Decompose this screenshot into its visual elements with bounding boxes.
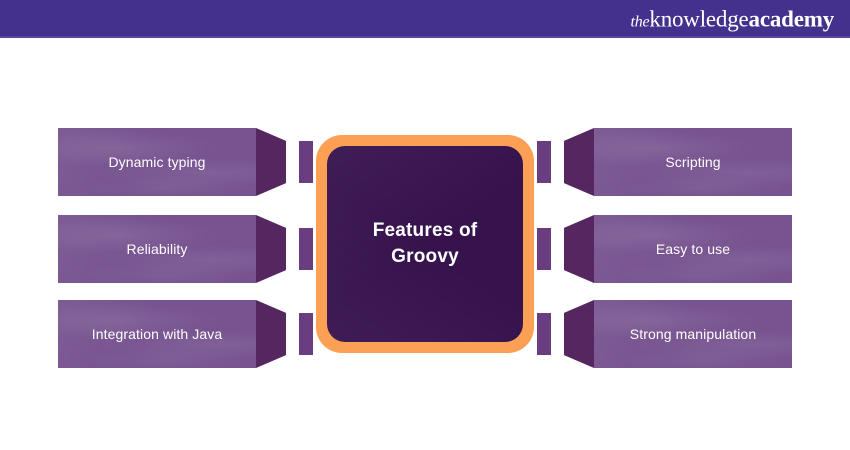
feature-item-reliability[interactable]: Reliability (58, 215, 313, 283)
arrow-taper-icon (256, 128, 286, 196)
arrow-taper-icon (564, 300, 594, 368)
arrow-taper-icon (256, 215, 286, 283)
brand-the-text: the (630, 14, 649, 31)
feature-item-easy-to-use[interactable]: Easy to use (537, 215, 792, 283)
center-title: Features of Groovy (373, 218, 478, 269)
arrow-connector-tab (537, 313, 551, 355)
arrow-connector-tab (299, 313, 313, 355)
arrow-connector-tab (537, 141, 551, 183)
brand-knowledge-text: knowledge (649, 7, 748, 32)
feature-body: Strong manipulation (594, 300, 792, 368)
arrow-taper-icon (564, 215, 594, 283)
feature-body: Easy to use (594, 215, 792, 283)
arrow-taper-icon (564, 128, 594, 196)
feature-label: Strong manipulation (630, 326, 756, 343)
feature-body: Integration with Java (58, 300, 256, 368)
center-card-inner: Features of Groovy (327, 146, 523, 342)
center-title-line-2: Groovy (391, 246, 459, 267)
arrow-connector-tab (299, 228, 313, 270)
arrow-connector-tab (299, 141, 313, 183)
feature-item-scripting[interactable]: Scripting (537, 128, 792, 196)
brand-logo: theknowledgeacademy (630, 8, 834, 31)
brand-academy-text: academy (749, 7, 834, 32)
arrow-taper-icon (256, 300, 286, 368)
center-card: Features of Groovy (316, 135, 534, 353)
arrow-connector-tab (537, 228, 551, 270)
feature-item-dynamic-typing[interactable]: Dynamic typing (58, 128, 313, 196)
feature-body: Scripting (594, 128, 792, 196)
feature-label: Reliability (126, 241, 187, 258)
feature-body: Reliability (58, 215, 256, 283)
feature-label: Scripting (665, 154, 720, 171)
features-diagram: Dynamic typing Reliability Integration w… (0, 38, 850, 450)
feature-item-strong-manipulation[interactable]: Strong manipulation (537, 300, 792, 368)
feature-label: Dynamic typing (108, 154, 205, 171)
center-title-line-1: Features of (373, 220, 478, 241)
feature-body: Dynamic typing (58, 128, 256, 196)
feature-label: Integration with Java (92, 326, 223, 343)
header-bar: theknowledgeacademy (0, 0, 850, 38)
feature-label: Easy to use (656, 241, 730, 258)
feature-item-integration-with-java[interactable]: Integration with Java (58, 300, 313, 368)
